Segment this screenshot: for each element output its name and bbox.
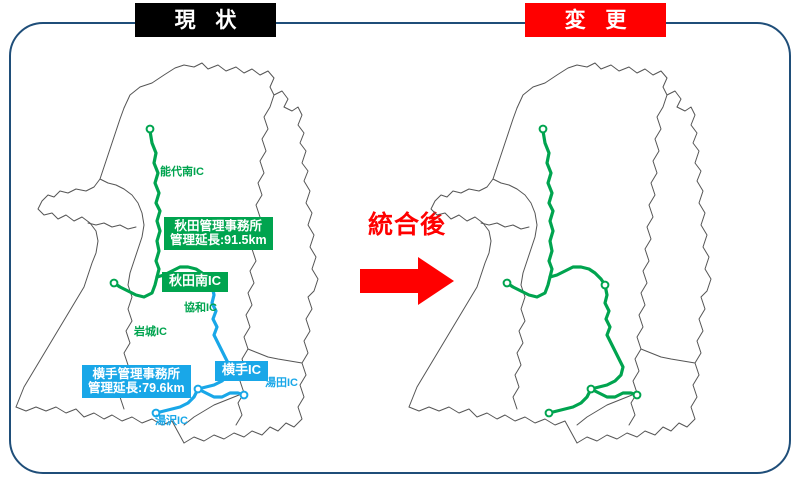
header-chip-current: 現 状 bbox=[135, 3, 276, 37]
yuda-ic-label: 湯田IC bbox=[265, 378, 298, 389]
map-current-state: 秋田管理事務所 管理延長:91.5km 秋田南IC 横手管理事務所 管理延長:7… bbox=[12, 45, 392, 455]
akita-minami-ic-box: 秋田南IC bbox=[162, 272, 228, 292]
akita-office-label: 秋田管理事務所 管理延長:91.5km bbox=[164, 217, 273, 250]
node-noshiro-minami bbox=[540, 126, 547, 133]
yuzawa-ic-label: 湯沢IC bbox=[155, 416, 188, 427]
node-kyowa bbox=[602, 282, 609, 289]
node-yuda bbox=[634, 392, 641, 399]
yokote-office-label: 横手管理事務所 管理延長:79.6km bbox=[82, 365, 191, 398]
akita-office-title: 秋田管理事務所 bbox=[170, 219, 267, 233]
yokote-office-title: 横手管理事務所 bbox=[88, 367, 185, 381]
map-left-svg bbox=[12, 45, 392, 455]
iwaki-ic-label: 岩城IC bbox=[134, 327, 167, 338]
node-noshiro-minami bbox=[147, 126, 154, 133]
kyowa-ic-label: 協和IC bbox=[184, 303, 217, 314]
yokote-ic-box: 横手IC bbox=[215, 361, 268, 381]
map-changed-state: 秋田管理事務所 管理延長:171.1km 秋田南IC 能代南IC 岩城IC 協和… bbox=[405, 45, 785, 455]
node-iwaki bbox=[111, 280, 118, 287]
yokote-office-length: 管理延長:79.6km bbox=[88, 381, 185, 395]
header-chip-changed: 変 更 bbox=[525, 3, 666, 37]
noshiro-minami-ic-label: 能代南IC bbox=[160, 167, 204, 178]
node-yokote bbox=[588, 386, 595, 393]
node-yuda bbox=[241, 392, 248, 399]
map-right-svg bbox=[405, 45, 785, 455]
node-iwaki bbox=[504, 280, 511, 287]
slide-canvas: 現 状 変 更 bbox=[0, 0, 800, 486]
node-yuzawa bbox=[546, 410, 553, 417]
node-yokote bbox=[195, 386, 202, 393]
akita-office-length: 管理延長:91.5km bbox=[170, 233, 267, 247]
